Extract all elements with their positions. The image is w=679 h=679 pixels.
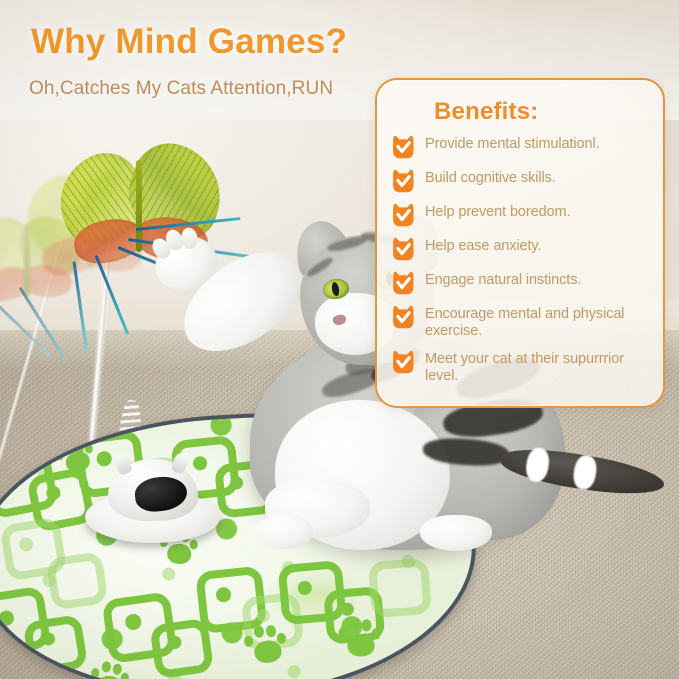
benefit-label: Help prevent boredom. bbox=[425, 202, 570, 221]
cat-head-check-icon bbox=[391, 237, 416, 261]
cat-paw-back bbox=[420, 515, 492, 551]
butterfly-body bbox=[136, 160, 142, 252]
benefit-label: Provide mental stimulationl. bbox=[425, 134, 600, 153]
mat-paw-print bbox=[240, 623, 285, 670]
benefit-list-item: Meet your cat at their supurrrior level. bbox=[391, 349, 649, 385]
benefit-list-item: Help ease anxiety. bbox=[391, 236, 649, 261]
product-photo-scene: Why Mind Games? Oh,Catches My Cats Atten… bbox=[0, 0, 679, 679]
mat-paw-print bbox=[337, 618, 377, 660]
page-title: Why Mind Games? bbox=[31, 22, 347, 62]
benefit-list-item: Help prevent boredom. bbox=[391, 202, 649, 227]
benefits-panel: Benefits: Provide mental stimulationl. bbox=[375, 78, 665, 408]
benefits-list: Provide mental stimulationl. Build cogni… bbox=[391, 134, 649, 385]
benefit-list-item: Provide mental stimulationl. bbox=[391, 134, 649, 159]
benefit-list-item: Engage natural instincts. bbox=[391, 270, 649, 295]
page-subtitle: Oh,Catches My Cats Attention,RUN bbox=[29, 78, 333, 100]
cat-head-check-icon bbox=[391, 305, 416, 329]
mat-paw-print bbox=[86, 659, 126, 679]
cat-head-check-icon bbox=[391, 169, 416, 193]
benefit-label: Encourage mental and physical exercise. bbox=[425, 304, 649, 340]
benefit-label: Build cognitive skills. bbox=[425, 168, 556, 187]
cat-head-check-icon bbox=[391, 271, 416, 295]
cat-paw-front bbox=[255, 515, 313, 549]
cat-head-check-icon bbox=[391, 350, 416, 374]
benefits-heading: Benefits: bbox=[434, 98, 649, 126]
benefit-label: Help ease anxiety. bbox=[425, 236, 541, 255]
benefit-list-item: Build cognitive skills. bbox=[391, 168, 649, 193]
benefit-list-item: Encourage mental and physical exercise. bbox=[391, 304, 649, 340]
benefit-label: Meet your cat at their supurrrior level. bbox=[425, 349, 649, 385]
benefit-label: Engage natural instincts. bbox=[425, 270, 581, 289]
cat-head-check-icon bbox=[391, 135, 416, 159]
cat-head-check-icon bbox=[391, 203, 416, 227]
